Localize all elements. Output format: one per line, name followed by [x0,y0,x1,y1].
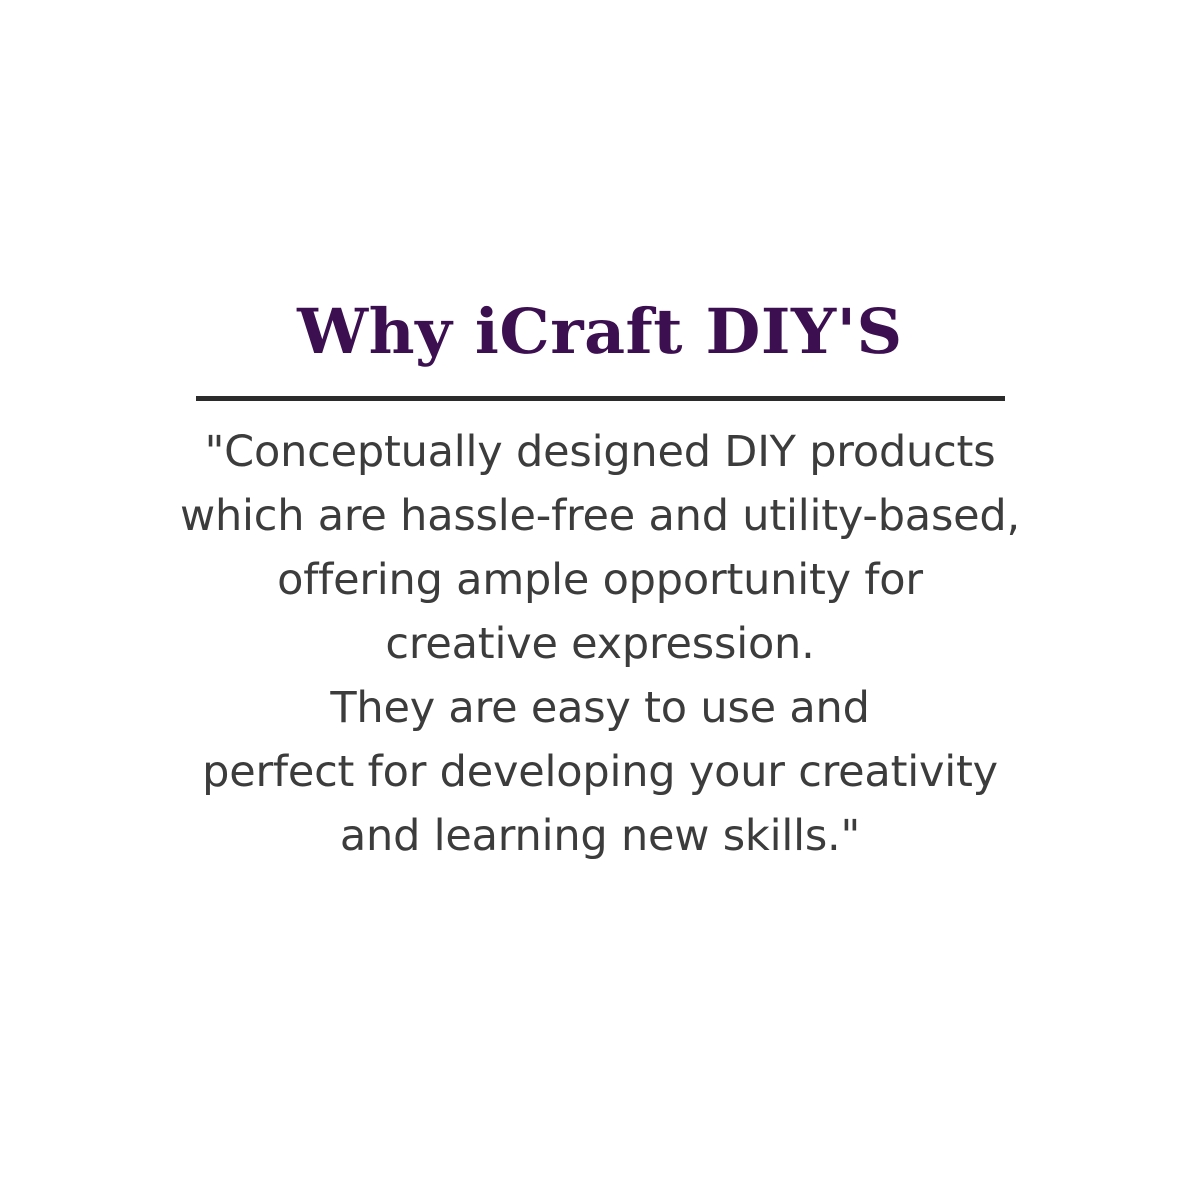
quote-line: "Conceptually designed DIY products [100,420,1100,484]
quote-line: which are hassle-free and utility-based, [100,484,1100,548]
quote-paragraph: "Conceptually designed DIY products whic… [100,420,1100,868]
page-canvas: Why iCraft DIY'S "Conceptually designed … [0,0,1200,1200]
why-icraft-diys-section: Why iCraft DIY'S "Conceptually designed … [0,0,1200,1200]
page-title: Why iCraft DIY'S [297,300,903,363]
quote-line: creative expression. [100,612,1100,676]
quote-line: They are easy to use and [100,676,1100,740]
title-divider-rule [196,396,1005,401]
quote-line: and learning new skills." [100,804,1100,868]
quote-line: offering ample opportunity for [100,548,1100,612]
quote-line: perfect for developing your creativity [100,740,1100,804]
divider-container [0,396,1200,401]
